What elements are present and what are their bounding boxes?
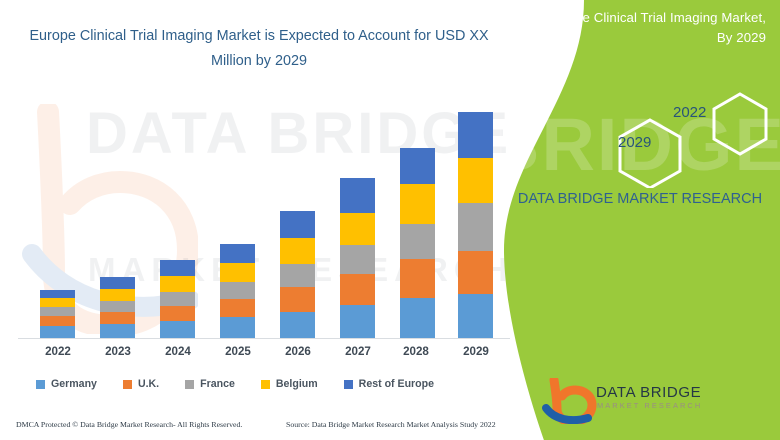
segment-belgium: [220, 263, 255, 282]
legend-label: Rest of Europe: [359, 378, 434, 390]
chart-legend: Germany U.K. France Belgium Rest of Euro…: [36, 374, 506, 394]
segment-france: [40, 307, 75, 316]
legend-swatch-icon: [344, 380, 353, 389]
bar-2024[interactable]: [160, 260, 195, 338]
x-label-2027: 2027: [328, 345, 388, 358]
x-label-2023: 2023: [88, 345, 148, 358]
segment-uk: [100, 312, 135, 324]
logo-text-sub: MARKET RESEARCH: [597, 401, 702, 410]
segment-france: [340, 245, 375, 274]
segment-rest-of-europe: [400, 148, 435, 184]
segment-belgium: [100, 289, 135, 301]
legend-label: Germany: [51, 378, 97, 390]
segment-germany: [400, 298, 435, 338]
hexagon-label-2029: 2029: [618, 134, 651, 151]
bar-2022[interactable]: [40, 290, 75, 338]
bar-2029[interactable]: [458, 112, 493, 338]
segment-france: [100, 301, 135, 312]
segment-france: [220, 282, 255, 299]
x-label-2025: 2025: [208, 345, 268, 358]
brand-heading: DATA BRIDGE MARKET RESEARCH: [516, 188, 764, 211]
hexagon-label-2022: 2022: [673, 104, 706, 121]
segment-uk: [340, 274, 375, 305]
segment-uk: [160, 306, 195, 321]
segment-rest-of-europe: [340, 178, 375, 213]
legend-item-belgium[interactable]: Belgium: [261, 378, 318, 390]
infographic-canvas: DATA BRIDGE MARKET RESEARCH Europe Clini…: [0, 0, 780, 440]
segment-belgium: [40, 298, 75, 307]
segment-rest-of-europe: [280, 211, 315, 238]
panel-title: Europe Clinical Trial Imaging Market, By…: [528, 8, 766, 48]
segment-uk: [220, 299, 255, 317]
segment-belgium: [160, 276, 195, 292]
legend-swatch-icon: [185, 380, 194, 389]
segment-france: [160, 292, 195, 306]
legend-swatch-icon: [36, 380, 45, 389]
segment-rest-of-europe: [40, 290, 75, 298]
legend-item-rest-of-europe[interactable]: Rest of Europe: [344, 378, 434, 390]
segment-rest-of-europe: [220, 244, 255, 263]
green-panel-shape: [500, 0, 780, 440]
segment-rest-of-europe: [100, 277, 135, 289]
hexagon-pair-icon: [588, 88, 778, 188]
legend-label: France: [200, 378, 235, 390]
segment-belgium: [400, 184, 435, 224]
legend-swatch-icon: [261, 380, 270, 389]
x-label-2024: 2024: [148, 345, 208, 358]
segment-belgium: [458, 158, 493, 203]
segment-rest-of-europe: [458, 112, 493, 158]
x-label-2026: 2026: [268, 345, 328, 358]
brand-panel: BRIDGE Europe Clinical Trial Imaging Mar…: [500, 0, 780, 440]
legend-item-france[interactable]: France: [185, 378, 235, 390]
bar-2026[interactable]: [280, 211, 315, 338]
segment-belgium: [280, 238, 315, 264]
logo-text-main: DATA BRIDGE: [596, 384, 701, 401]
footer-source: Source: Data Bridge Market Research Mark…: [286, 420, 496, 429]
chart-title: Europe Clinical Trial Imaging Market is …: [26, 24, 492, 74]
legend-item-germany[interactable]: Germany: [36, 378, 97, 390]
segment-uk: [280, 287, 315, 312]
segment-germany: [100, 324, 135, 338]
bar-2028[interactable]: [400, 148, 435, 338]
footer-copyright: DMCA Protected © Data Bridge Market Rese…: [16, 420, 242, 429]
segment-germany: [280, 312, 315, 338]
segment-france: [400, 224, 435, 259]
segment-germany: [40, 326, 75, 338]
x-axis-line: [18, 338, 510, 339]
segment-germany: [458, 294, 493, 338]
segment-uk: [458, 251, 493, 294]
segment-uk: [400, 259, 435, 298]
x-label-2028: 2028: [386, 345, 446, 358]
segment-germany: [220, 317, 255, 338]
legend-item-uk[interactable]: U.K.: [123, 378, 159, 390]
segment-germany: [160, 321, 195, 338]
bar-2027[interactable]: [340, 178, 375, 338]
bar-2025[interactable]: [220, 244, 255, 338]
segment-rest-of-europe: [160, 260, 195, 276]
bar-2023[interactable]: [100, 277, 135, 338]
legend-swatch-icon: [123, 380, 132, 389]
segment-france: [280, 264, 315, 287]
legend-label: Belgium: [276, 378, 318, 390]
x-label-2022: 2022: [28, 345, 88, 358]
segment-uk: [40, 316, 75, 326]
legend-label: U.K.: [138, 378, 159, 390]
x-label-2029: 2029: [446, 345, 506, 358]
segment-france: [458, 203, 493, 251]
segment-germany: [340, 305, 375, 338]
segment-belgium: [340, 213, 375, 245]
